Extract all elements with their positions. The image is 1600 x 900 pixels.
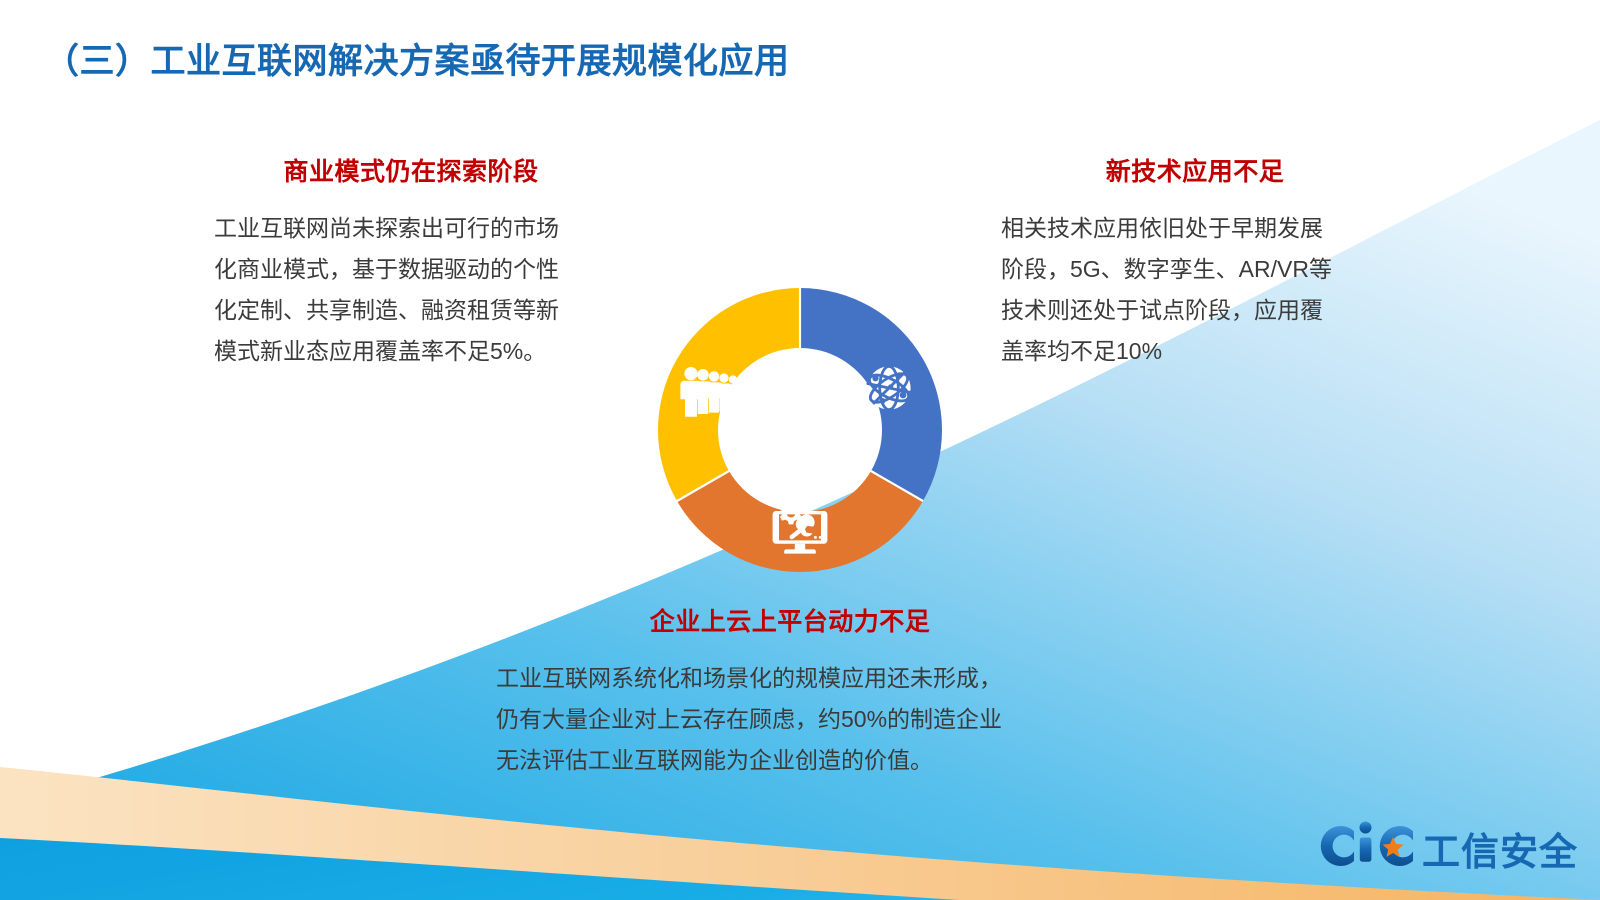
donut-chart [655, 285, 945, 575]
block-bottom-body: 工业互联网系统化和场景化的规模应用还未形成， 仍有大量企业对上云存在顾虑，约50… [470, 658, 1110, 781]
block-left-body-line: 模式新业态应用覆盖率不足5%。 [214, 331, 626, 372]
block-bottom-body-line: 仍有大量企业对上云存在顾虑，约50%的制造企业 [496, 699, 1110, 740]
text-block-bottom: 企业上云上平台动力不足 工业互联网系统化和场景化的规模应用还未形成， 仍有大量企… [470, 602, 1110, 781]
block-left-body-line: 工业互联网尚未探索出可行的市场 [214, 208, 626, 249]
block-right-body-line: 盖率均不足10% [1001, 331, 1405, 372]
slide-title: （三）工业互联网解决方案亟待开展规模化应用 [44, 33, 790, 84]
block-left-body: 工业互联网尚未探索出可行的市场 化商业模式，基于数据驱动的个性 化定制、共享制造… [196, 208, 626, 372]
brand-logo: 工信安全 [1318, 818, 1570, 874]
block-bottom-body-line: 无法评估工业互联网能为企业创造的价值。 [496, 740, 1110, 781]
text-block-right: 新技术应用不足 相关技术应用依旧处于早期发展 阶段，5G、数字孪生、AR/VR等… [985, 152, 1405, 372]
block-right-heading: 新技术应用不足 [985, 152, 1405, 188]
block-right-body: 相关技术应用依旧处于早期发展 阶段，5G、数字孪生、AR/VR等 技术则还处于试… [985, 208, 1405, 372]
block-left-body-line: 化定制、共享制造、融资租赁等新 [214, 290, 626, 331]
block-bottom-heading: 企业上云上平台动力不足 [470, 602, 1110, 638]
block-bottom-body-line: 工业互联网系统化和场景化的规模应用还未形成， [496, 658, 1110, 699]
block-right-body-line: 阶段，5G、数字孪生、AR/VR等 [1001, 249, 1405, 290]
block-left-body-line: 化商业模式，基于数据驱动的个性 [214, 249, 626, 290]
slide-canvas: （三）工业互联网解决方案亟待开展规模化应用 商业模式仍在探索阶段 工业互联网尚未… [0, 0, 1600, 900]
logo-text: 工信安全 [1422, 821, 1578, 876]
block-left-heading: 商业模式仍在探索阶段 [196, 152, 626, 188]
block-right-body-line: 技术则还处于试点阶段，应用覆 [1001, 290, 1405, 331]
block-right-body-line: 相关技术应用依旧处于早期发展 [1001, 208, 1405, 249]
text-block-left: 商业模式仍在探索阶段 工业互联网尚未探索出可行的市场 化商业模式，基于数据驱动的… [196, 152, 626, 372]
cic-logo-mark [1318, 818, 1420, 872]
